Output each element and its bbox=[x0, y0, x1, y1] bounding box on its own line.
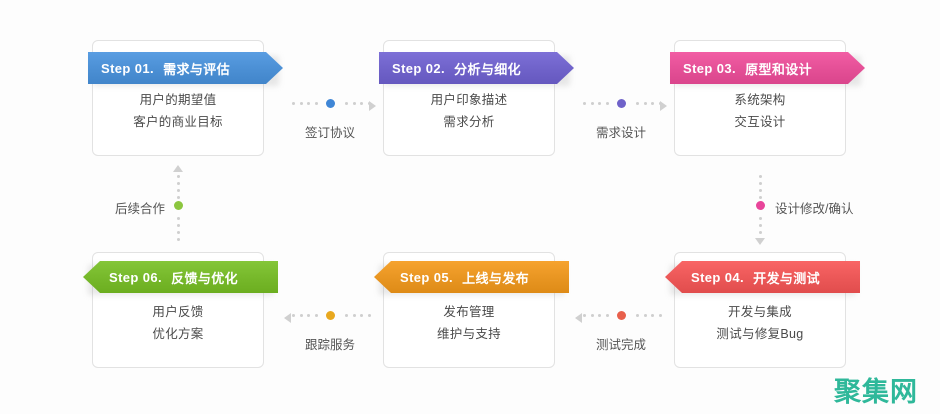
connector-dot bbox=[636, 314, 639, 317]
connector-dot bbox=[636, 102, 639, 105]
connector-dot bbox=[759, 217, 762, 220]
step-detail-line: 客户的商业目标 bbox=[93, 111, 263, 133]
connector-label: 测试完成 bbox=[575, 334, 667, 353]
connector-dot bbox=[368, 314, 371, 317]
connector-dot bbox=[345, 314, 348, 317]
step-number: Step 02. bbox=[392, 61, 445, 76]
connector-dot bbox=[659, 314, 662, 317]
connector-dot bbox=[307, 102, 310, 105]
arrow-left-icon bbox=[284, 313, 291, 323]
step-number: Step 06. bbox=[109, 270, 162, 285]
step-card-body: 开发与集成测试与修复Bug bbox=[675, 301, 845, 345]
connector-label: 签订协议 bbox=[284, 122, 376, 141]
step-title: 上线与发布 bbox=[462, 268, 529, 287]
connector-dot bbox=[759, 224, 762, 227]
arrow-right-icon bbox=[660, 101, 667, 111]
connector-dot bbox=[644, 102, 647, 105]
step-title: 需求与评估 bbox=[163, 59, 230, 78]
dotted-line bbox=[284, 99, 376, 109]
connector-dot bbox=[177, 217, 180, 220]
connector-dot bbox=[353, 314, 356, 317]
arrow-right-icon bbox=[369, 101, 376, 111]
connector-dot bbox=[177, 196, 180, 199]
connector-dot bbox=[598, 314, 601, 317]
connector-conn-03-04: 设计修改/确认 bbox=[753, 165, 769, 245]
connector-dot bbox=[353, 102, 356, 105]
connector-dot bbox=[591, 102, 594, 105]
step-banner-5[interactable]: Step 05.上线与发布 bbox=[374, 261, 569, 293]
step-title: 分析与细化 bbox=[454, 59, 521, 78]
step-card-body: 用户的期望值客户的商业目标 bbox=[93, 89, 263, 133]
connector-dot bbox=[759, 175, 762, 178]
step-detail-line: 需求分析 bbox=[384, 111, 554, 133]
step-detail-line: 交互设计 bbox=[675, 111, 845, 133]
step-card-body: 用户印象描述需求分析 bbox=[384, 89, 554, 133]
connector-dot bbox=[644, 314, 647, 317]
connector-dot bbox=[360, 314, 363, 317]
connector-dot bbox=[759, 182, 762, 185]
connector-dot bbox=[177, 182, 180, 185]
arrow-up-icon bbox=[173, 165, 183, 172]
connector-dot bbox=[300, 102, 303, 105]
step-banner-4[interactable]: Step 04.开发与测试 bbox=[665, 261, 860, 293]
connector-dot bbox=[177, 231, 180, 234]
connector-dot bbox=[606, 314, 609, 317]
connector-dot bbox=[759, 189, 762, 192]
connector-dot bbox=[360, 102, 363, 105]
step-banner-3[interactable]: Step 03.原型和设计 bbox=[670, 52, 865, 84]
connector-conn-01-02: 签订协议 bbox=[284, 94, 376, 146]
step-title: 开发与测试 bbox=[753, 268, 820, 287]
connector-dot bbox=[345, 102, 348, 105]
step-card-body: 发布管理维护与支持 bbox=[384, 301, 554, 345]
step-number: Step 03. bbox=[683, 61, 736, 76]
step-banner-2[interactable]: Step 02.分析与细化 bbox=[379, 52, 574, 84]
step-detail-line: 维护与支持 bbox=[384, 323, 554, 345]
site-watermark: 聚集网 bbox=[834, 379, 918, 406]
connector-dot bbox=[759, 196, 762, 199]
connector-dot bbox=[759, 231, 762, 234]
connector-dot bbox=[315, 102, 318, 105]
arrow-left-icon bbox=[575, 313, 582, 323]
connector-label: 跟踪服务 bbox=[284, 334, 376, 353]
connector-label: 设计修改/确认 bbox=[775, 198, 853, 217]
connector-dot bbox=[177, 224, 180, 227]
connector-conn-04-05: 测试完成 bbox=[575, 306, 667, 358]
step-detail-line: 用户反馈 bbox=[93, 301, 263, 323]
connector-marker-dot bbox=[174, 201, 183, 210]
connector-dot bbox=[583, 314, 586, 317]
connector-dot bbox=[292, 102, 295, 105]
arrow-down-icon bbox=[755, 238, 765, 245]
step-detail-line: 用户印象描述 bbox=[384, 89, 554, 111]
step-card-body: 用户反馈优化方案 bbox=[93, 301, 263, 345]
connector-dot bbox=[177, 175, 180, 178]
connector-marker-dot bbox=[756, 201, 765, 210]
connector-dot bbox=[292, 314, 295, 317]
step-detail-line: 测试与修复Bug bbox=[675, 323, 845, 345]
connector-dot bbox=[315, 314, 318, 317]
step-title: 反馈与优化 bbox=[171, 268, 238, 287]
connector-dot bbox=[606, 102, 609, 105]
connector-dot bbox=[651, 314, 654, 317]
dotted-line bbox=[575, 311, 667, 321]
step-number: Step 04. bbox=[691, 270, 744, 285]
step-banner-6[interactable]: Step 06.反馈与优化 bbox=[83, 261, 278, 293]
connector-dot bbox=[651, 102, 654, 105]
step-detail-line: 优化方案 bbox=[93, 323, 263, 345]
connector-conn-02-03: 需求设计 bbox=[575, 94, 667, 146]
connector-dot bbox=[591, 314, 594, 317]
step-detail-line: 用户的期望值 bbox=[93, 89, 263, 111]
step-detail-line: 系统架构 bbox=[675, 89, 845, 111]
connector-label: 后续合作 bbox=[115, 198, 165, 217]
connector-marker-dot bbox=[617, 99, 626, 108]
step-card-body: 系统架构交互设计 bbox=[675, 89, 845, 133]
step-banner-1[interactable]: Step 01.需求与评估 bbox=[88, 52, 283, 84]
dotted-line bbox=[284, 311, 376, 321]
step-number: Step 05. bbox=[400, 270, 453, 285]
connector-dot bbox=[583, 102, 586, 105]
connector-conn-05-06: 跟踪服务 bbox=[284, 306, 376, 358]
step-number: Step 01. bbox=[101, 61, 154, 76]
connector-dot bbox=[300, 314, 303, 317]
step-detail-line: 开发与集成 bbox=[675, 301, 845, 323]
step-detail-line: 发布管理 bbox=[384, 301, 554, 323]
dotted-line bbox=[575, 99, 667, 109]
connector-marker-dot bbox=[326, 311, 335, 320]
flow-diagram-canvas: 用户的期望值客户的商业目标Step 01.需求与评估用户印象描述需求分析Step… bbox=[0, 0, 940, 414]
connector-dot bbox=[598, 102, 601, 105]
connector-conn-06-01: 后续合作 bbox=[171, 165, 187, 245]
connector-marker-dot bbox=[617, 311, 626, 320]
connector-dot bbox=[177, 238, 180, 241]
connector-marker-dot bbox=[326, 99, 335, 108]
connector-dot bbox=[177, 189, 180, 192]
connector-dot bbox=[307, 314, 310, 317]
step-title: 原型和设计 bbox=[745, 59, 812, 78]
connector-label: 需求设计 bbox=[575, 122, 667, 141]
